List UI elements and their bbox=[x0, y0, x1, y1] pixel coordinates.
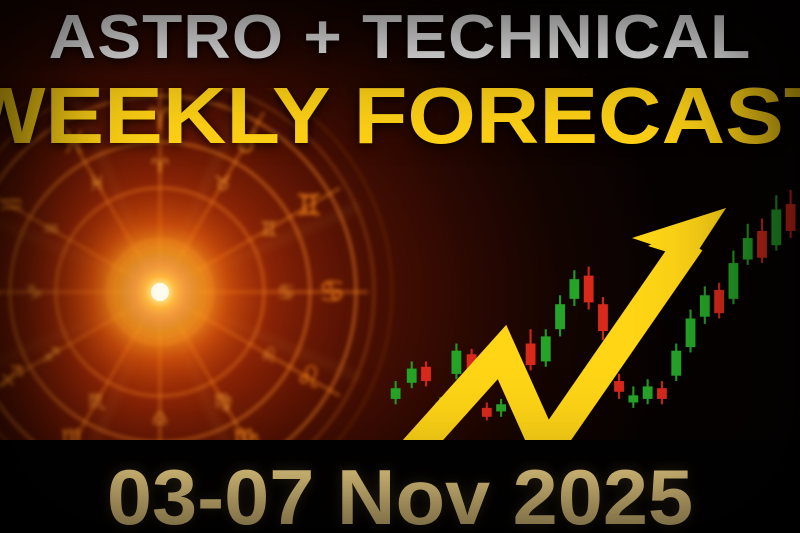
svg-text:♒: ♒ bbox=[0, 189, 24, 224]
headline-top: ASTRO + TECHNICAL bbox=[0, 0, 800, 74]
svg-text:♊: ♊ bbox=[296, 189, 323, 224]
svg-text:♑: ♑ bbox=[0, 275, 1, 310]
svg-text:♐: ♐ bbox=[0, 361, 24, 396]
headline-block: ASTRO + TECHNICAL WEEKLY FORECAST bbox=[0, 0, 800, 158]
svg-text:♌: ♌ bbox=[296, 361, 323, 396]
headline-main: WEEKLY FORECAST bbox=[0, 74, 800, 158]
svg-text:♋: ♋ bbox=[319, 275, 346, 310]
date-range-label: 03-07 Nov 2025 bbox=[0, 455, 800, 533]
poster-canvas: ♈ ♉ ♊ ♋ ♌ ♍ ♎ ♏ ♐ ♑ ♒ ♓ ♈ ♉ ♊ ♋ bbox=[0, 0, 800, 533]
uptrend-arrow bbox=[380, 150, 800, 445]
